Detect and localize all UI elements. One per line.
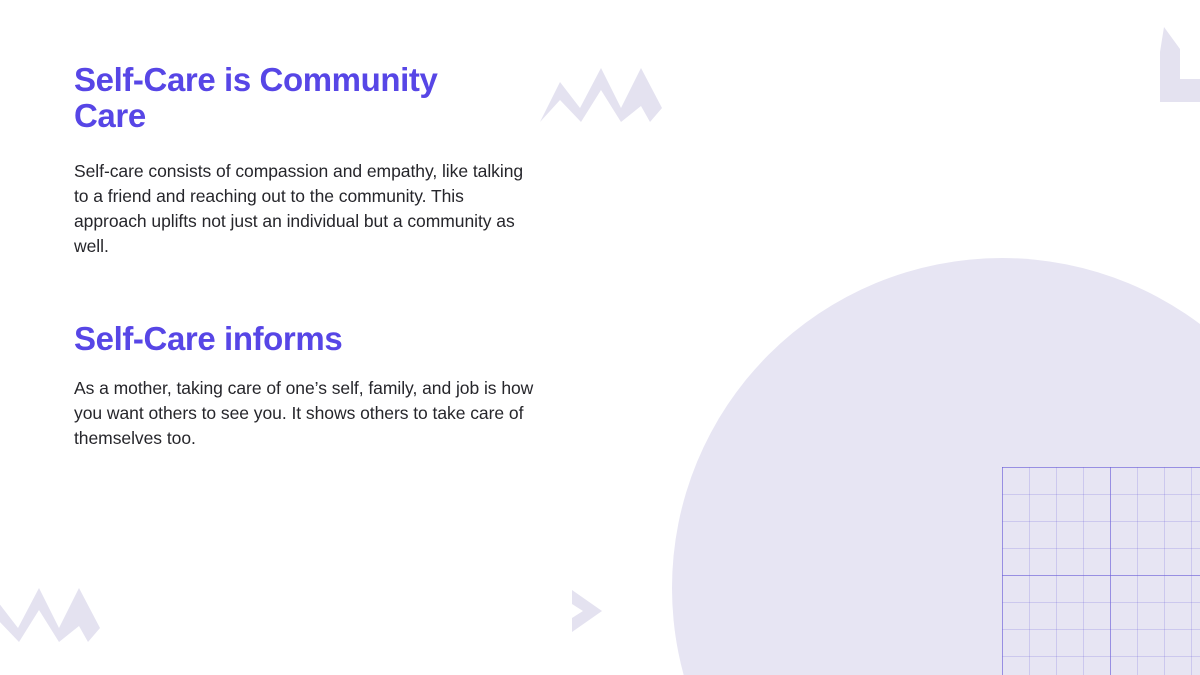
content-column: Self-Care is Community Care Self-care co… xyxy=(74,62,544,451)
heading-self-care-is-community-care: Self-Care is Community Care xyxy=(74,62,494,133)
text-block-self-care-informs: Self-Care informs As a mother, taking ca… xyxy=(74,321,544,451)
body-self-care-is-community-care: Self-care consists of compassion and emp… xyxy=(74,159,536,258)
text-block-self-care-community: Self-Care is Community Care Self-care co… xyxy=(74,62,544,259)
corner-bracket-icon xyxy=(1144,27,1200,102)
heading-self-care-informs: Self-Care informs xyxy=(74,321,544,357)
chevron-right-icon xyxy=(570,590,602,632)
slide-canvas: Self-Care is Community Care Self-care co… xyxy=(0,0,1200,675)
decorative-grid-pattern xyxy=(1002,467,1200,675)
zigzag-icon-top xyxy=(540,64,662,122)
body-self-care-informs: As a mother, taking care of one’s self, … xyxy=(74,376,544,451)
zigzag-icon-bottom xyxy=(0,584,100,642)
decorative-circle xyxy=(672,258,1200,675)
